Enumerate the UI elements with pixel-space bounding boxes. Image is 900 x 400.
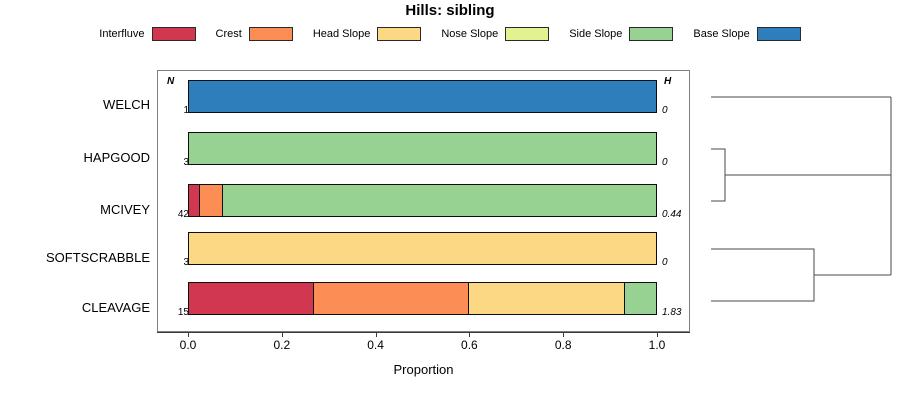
legend-item-interfluve[interactable]: Interfluve (99, 27, 195, 41)
bar-segment-side-slope[interactable] (223, 185, 656, 216)
legend-item-base-slope[interactable]: Base Slope (693, 27, 800, 41)
row-label-cleavage: CLEAVAGE (0, 300, 150, 315)
column-header-n: N (167, 76, 174, 87)
x-tick (188, 332, 189, 337)
x-tick-label: 0.2 (262, 338, 302, 352)
row-label-hapgood: HAPGOOD (0, 150, 150, 165)
column-header-h: H (664, 76, 671, 87)
chart-root: Hills: sibling Interfluve Crest Head Slo… (0, 0, 900, 400)
dendrogram (690, 70, 900, 332)
x-tick-label: 0.6 (449, 338, 489, 352)
page-title: Hills: sibling (0, 2, 900, 19)
row-label-mcivey: MCIVEY (0, 202, 150, 217)
legend-swatch-interfluve (152, 27, 196, 41)
row-n-value: 3 (163, 157, 189, 168)
legend-swatch-side-slope (629, 27, 673, 41)
x-tick-label: 0.0 (168, 338, 208, 352)
bar-segment-head-slope[interactable] (469, 283, 625, 314)
dendro-branch-softscrabble-cleavage (711, 249, 814, 301)
legend-swatch-nose-slope (505, 27, 549, 41)
bar-segment-side-slope[interactable] (625, 283, 656, 314)
bar-segment-crest[interactable] (314, 283, 470, 314)
legend: Interfluve Crest Head Slope Nose Slope S… (0, 25, 900, 43)
x-tick (563, 332, 564, 337)
bar-hapgood[interactable] (188, 132, 657, 165)
x-tick (376, 332, 377, 337)
bar-segment-head-slope[interactable] (189, 233, 656, 264)
legend-item-nose-slope[interactable]: Nose Slope (441, 27, 549, 41)
legend-label: Side Slope (569, 28, 622, 40)
dendro-branch-hapgood-mcivey (711, 149, 725, 201)
row-label-softscrabble: SOFTSCRABBLE (0, 250, 150, 265)
x-tick-label: 0.8 (543, 338, 583, 352)
legend-item-crest[interactable]: Crest (216, 27, 293, 41)
legend-swatch-crest (249, 27, 293, 41)
x-tick-label: 0.4 (356, 338, 396, 352)
row-n-value: 15 (163, 307, 189, 318)
bar-softscrabble[interactable] (188, 232, 657, 265)
legend-label: Base Slope (693, 28, 749, 40)
bar-segment-side-slope[interactable] (189, 133, 656, 164)
x-tick (657, 332, 658, 337)
bar-segment-interfluve[interactable] (189, 283, 314, 314)
x-tick (469, 332, 470, 337)
x-tick (282, 332, 283, 337)
bar-mcivey[interactable] (188, 184, 657, 217)
row-label-welch: WELCH (0, 97, 150, 112)
row-n-value: 3 (163, 257, 189, 268)
bar-segment-base-slope[interactable] (189, 81, 656, 112)
legend-swatch-base-slope (757, 27, 801, 41)
bar-segment-crest[interactable] (200, 185, 222, 216)
row-n-value: 1 (163, 105, 189, 116)
dendrogram-svg (690, 70, 900, 332)
legend-item-head-slope[interactable]: Head Slope (313, 27, 422, 41)
bar-segment-interfluve[interactable] (189, 185, 200, 216)
legend-swatch-head-slope (377, 27, 421, 41)
x-axis-line (157, 332, 690, 333)
bar-welch[interactable] (188, 80, 657, 113)
legend-label: Interfluve (99, 28, 144, 40)
row-n-value: 42 (163, 209, 189, 220)
x-tick-label: 1.0 (637, 338, 677, 352)
legend-label: Nose Slope (441, 28, 498, 40)
x-axis-title: Proportion (157, 362, 690, 377)
bar-cleavage[interactable] (188, 282, 657, 315)
legend-label: Crest (216, 28, 242, 40)
legend-item-side-slope[interactable]: Side Slope (569, 27, 673, 41)
legend-label: Head Slope (313, 28, 371, 40)
